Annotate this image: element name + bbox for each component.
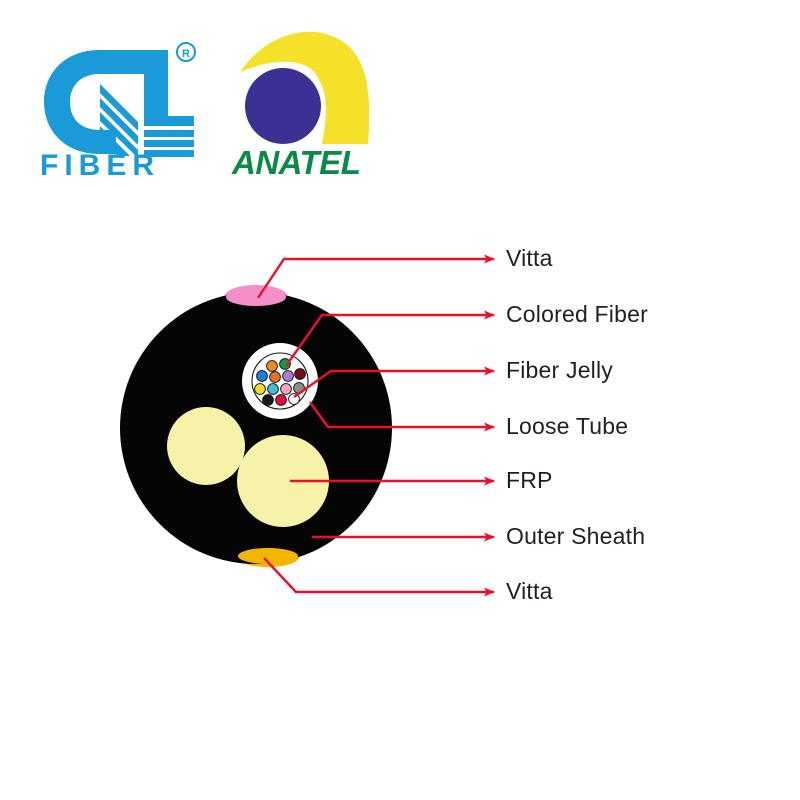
colored-fiber [270,372,281,383]
colored-fiber [257,371,268,382]
colored-fiber [268,384,279,395]
cable-cross-section-diagram [0,0,800,800]
colored-fiber [276,395,287,406]
leader-vitta-top [258,259,494,298]
vitta-top-stripe-face [226,288,286,306]
leader-vitta-bottom [264,558,494,592]
colored-fiber [255,384,266,395]
callout-label-outer-sheath: Outer Sheath [506,525,645,548]
colored-fiber [281,384,292,395]
colored-fiber [267,361,278,372]
callout-label-vitta-bottom: Vitta [506,580,553,603]
callout-label-frp: FRP [506,469,553,492]
callout-label-fiber-jelly: Fiber Jelly [506,359,613,382]
colored-fiber [295,369,306,380]
callout-label-loose-tube: Loose Tube [506,415,628,438]
colored-fiber [283,371,294,382]
diagram-page: R FIBER ANATEL [0,0,800,800]
colored-fiber [263,395,274,406]
callout-label-colored-fiber: Colored Fiber [506,303,648,326]
callout-label-vitta-top: Vitta [506,247,553,270]
frp-rod-left [167,407,245,485]
